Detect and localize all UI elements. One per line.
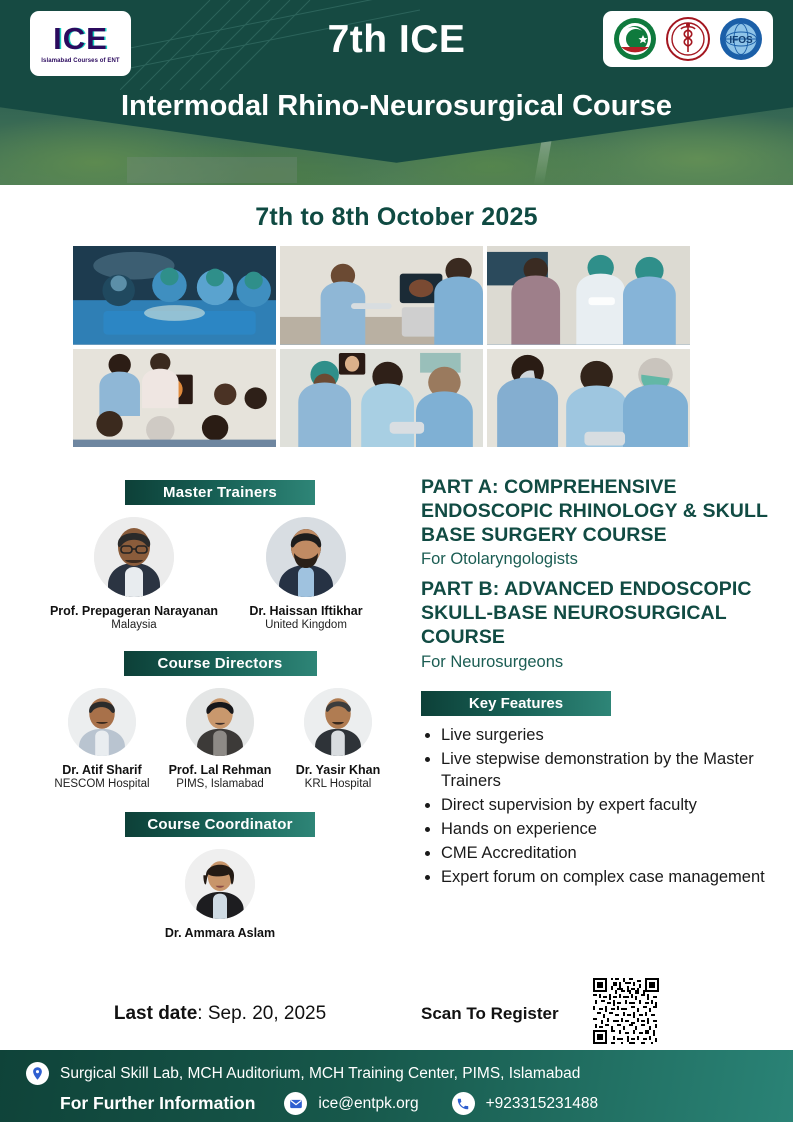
course-coordinator-list: Dr. Ammara Aslam	[40, 849, 400, 940]
part-a-audience: For Otolaryngologists	[421, 550, 773, 569]
person-name: Dr. Ammara Aslam	[120, 926, 320, 940]
footer-email[interactable]: ice@entpk.org	[318, 1095, 418, 1113]
master-trainers-section: Master Trainers	[40, 480, 400, 631]
envelope-icon	[284, 1092, 307, 1115]
partner-logos: IFOS	[603, 11, 773, 67]
ifos-logo-icon: IFOS	[718, 16, 764, 62]
event-date: 7th to 8th October 2025	[0, 203, 793, 232]
gallery-photo	[280, 349, 483, 448]
location-pin-icon	[26, 1062, 49, 1085]
master-trainers-list: Prof. Prepageran Narayanan Malaysia	[40, 517, 400, 631]
list-item: Expert forum on complex case management	[441, 866, 773, 888]
last-date: Last date: Sep. 20, 2025	[40, 1003, 400, 1025]
gallery-photo	[280, 246, 483, 345]
poster-header: ICE Islamabad Courses of ENT	[0, 0, 793, 185]
qr-code[interactable]	[593, 978, 659, 1044]
qr-code-icon	[593, 978, 659, 1044]
person-affiliation: NESCOM Hospital	[43, 778, 161, 790]
person-card: Dr. Haissan Iftikhar United Kingdom	[220, 517, 392, 631]
avatar	[94, 517, 174, 597]
poster-footer: Surgical Skill Lab, MCH Auditorium, MCH …	[0, 1050, 793, 1122]
left-column: Master Trainers	[40, 480, 400, 940]
person-card: Prof. Lal Rehman PIMS, Islamabad	[161, 688, 279, 790]
poster-root: ICE Islamabad Courses of ENT	[0, 0, 793, 1122]
course-directors-list: Dr. Atif Sharif NESCOM Hospital Prof. L	[40, 688, 400, 790]
last-date-value: : Sep. 20, 2025	[197, 1003, 326, 1024]
master-trainers-badge: Master Trainers	[125, 480, 315, 505]
svg-text:IFOS: IFOS	[729, 35, 753, 46]
list-item: Hands on experience	[441, 818, 773, 840]
avatar	[304, 688, 372, 756]
person-name: Prof. Prepageran Narayanan	[48, 604, 220, 618]
person-name: Dr. Atif Sharif	[43, 763, 161, 777]
gallery-photo	[487, 349, 690, 448]
list-item: CME Accreditation	[441, 842, 773, 864]
person-card: Prof. Prepageran Narayanan Malaysia	[48, 517, 220, 631]
ice-logo: ICE Islamabad Courses of ENT	[30, 11, 131, 76]
list-item: Live surgeries	[441, 724, 773, 746]
poster-subtitle: Intermodal Rhino-Neurosurgical Course	[0, 88, 793, 125]
person-name: Prof. Lal Rehman	[161, 763, 279, 777]
key-features-list: Live surgeries Live stepwise demonstrati…	[421, 724, 773, 889]
gallery-photo	[73, 246, 276, 345]
course-coordinator-section: Course Coordinator Dr. Ammara Aslam	[40, 812, 400, 940]
person-affiliation: PIMS, Islamabad	[161, 778, 279, 790]
footer-phone[interactable]: +923315231488	[486, 1095, 599, 1113]
phone-icon	[452, 1092, 475, 1115]
pakistan-crest-logo-icon	[612, 16, 658, 62]
course-coordinator-badge: Course Coordinator	[125, 812, 315, 837]
person-card: Dr. Ammara Aslam	[120, 849, 320, 940]
key-features-badge: Key Features	[421, 691, 611, 716]
course-directors-section: Course Directors Dr. Atif Sharif NESCOM …	[40, 651, 400, 790]
footer-info-label: For Further Information	[60, 1093, 255, 1114]
person-affiliation: Malaysia	[48, 619, 220, 631]
part-b-audience: For Neurosurgeons	[421, 653, 773, 672]
gallery-photo	[73, 349, 276, 448]
right-column: PART A: COMPREHENSIVE ENDOSCOPIC RHINOLO…	[421, 476, 773, 890]
person-affiliation: United Kingdom	[220, 619, 392, 631]
avatar	[185, 849, 255, 919]
avatar	[186, 688, 254, 756]
person-affiliation: KRL Hospital	[279, 778, 397, 790]
person-name: Dr. Haissan Iftikhar	[220, 604, 392, 618]
avatar	[68, 688, 136, 756]
caduceus-medical-logo-icon	[665, 16, 711, 62]
list-item: Live stepwise demonstration by the Maste…	[441, 748, 773, 792]
scan-to-register-label: Scan To Register	[421, 1004, 559, 1024]
register-section: Scan To Register	[421, 978, 773, 1048]
part-b-heading: PART B: ADVANCED ENDOSCOPIC SKULL-BASE N…	[421, 578, 773, 649]
person-card: Dr. Yasir Khan KRL Hospital	[279, 688, 397, 790]
last-date-label: Last date	[114, 1003, 197, 1024]
list-item: Direct supervision by expert faculty	[441, 794, 773, 816]
person-name: Dr. Yasir Khan	[279, 763, 397, 777]
footer-venue-row: Surgical Skill Lab, MCH Auditorium, MCH …	[26, 1062, 580, 1085]
ice-logo-caption: Islamabad Courses of ENT	[41, 58, 119, 64]
footer-contact-row: For Further Information ice@entpk.org +9…	[60, 1092, 620, 1115]
scenery-building	[127, 157, 297, 183]
ice-logo-mark: ICE	[53, 23, 108, 54]
avatar	[266, 517, 346, 597]
photo-gallery	[73, 246, 690, 447]
person-card: Dr. Atif Sharif NESCOM Hospital	[43, 688, 161, 790]
footer-venue-text: Surgical Skill Lab, MCH Auditorium, MCH …	[60, 1065, 580, 1083]
part-a-heading: PART A: COMPREHENSIVE ENDOSCOPIC RHINOLO…	[421, 476, 773, 547]
gallery-photo	[487, 246, 690, 345]
course-directors-badge: Course Directors	[124, 651, 317, 676]
